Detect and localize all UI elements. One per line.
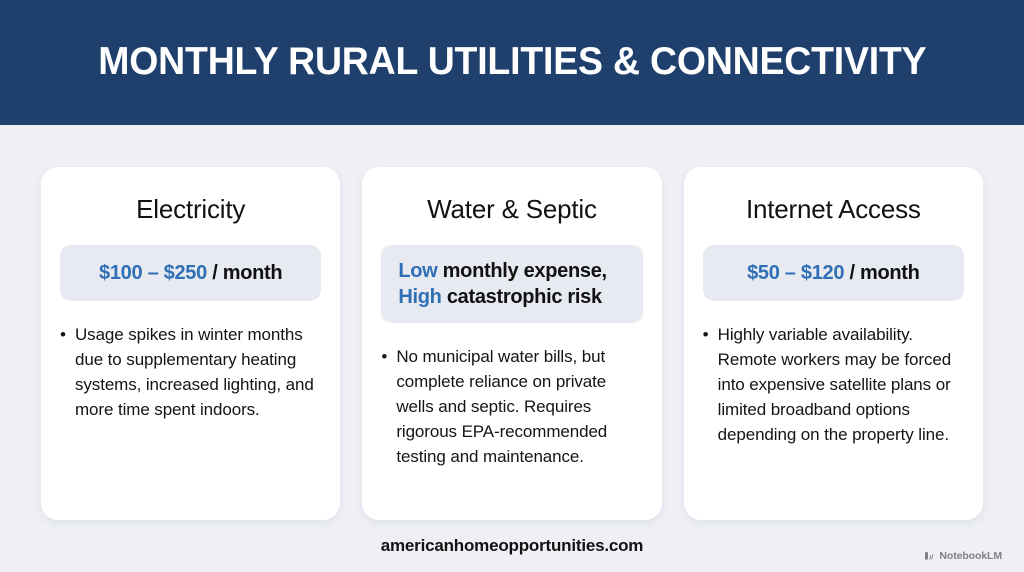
cost-range: $100 – $250 <box>99 262 207 284</box>
notebooklm-icon <box>923 550 935 562</box>
cost-badge: Low monthly expense, High catastrophic r… <box>381 245 642 323</box>
list-item-text: Highly variable availability. Remote wor… <box>718 323 964 448</box>
bullet-list: • No municipal water bills, but complete… <box>381 345 642 470</box>
card-title: Internet Access <box>703 195 964 224</box>
bullet-icon: • <box>381 345 396 370</box>
list-item: • Highly variable availability. Remote w… <box>703 323 964 448</box>
cost-badge-text: $100 – $250 / month <box>99 260 282 286</box>
slide-root: MONTHLY RURAL UTILITIES & CONNECTIVITY E… <box>0 0 1024 572</box>
page-title: MONTHLY RURAL UTILITIES & CONNECTIVITY <box>98 41 926 84</box>
risk-high-desc: catastrophic risk <box>442 286 602 308</box>
card-internet-access: Internet Access $50 – $120 / month • Hig… <box>684 167 983 520</box>
bullet-list: • Usage spikes in winter months due to s… <box>60 323 321 423</box>
slide-header: MONTHLY RURAL UTILITIES & CONNECTIVITY <box>0 0 1024 125</box>
watermark-label: NotebookLM <box>939 550 1002 562</box>
card-electricity: Electricity $100 – $250 / month • Usage … <box>41 167 340 520</box>
cost-badge-text: $50 – $120 / month <box>747 260 919 286</box>
risk-low-desc: monthly expense, <box>437 260 606 282</box>
card-water-septic: Water & Septic Low monthly expense, High… <box>362 167 661 520</box>
card-title: Electricity <box>60 195 321 224</box>
cost-badge: $50 – $120 / month <box>703 245 964 301</box>
cost-period: / month <box>207 262 282 284</box>
slide-footer: americanhomeopportunities.com NotebookLM <box>0 520 1024 572</box>
card-title: Water & Septic <box>381 195 642 224</box>
cost-range: $50 – $120 <box>747 262 844 284</box>
bullet-list: • Highly variable availability. Remote w… <box>703 323 964 448</box>
list-item-text: Usage spikes in winter months due to sup… <box>75 323 321 423</box>
list-item-text: No municipal water bills, but complete r… <box>396 345 642 470</box>
cost-badge: $100 – $250 / month <box>60 245 321 301</box>
source-url: americanhomeopportunities.com <box>381 536 643 556</box>
list-item: • Usage spikes in winter months due to s… <box>60 323 321 423</box>
list-item: • No municipal water bills, but complete… <box>381 345 642 470</box>
cost-period: / month <box>844 262 919 284</box>
bullet-icon: • <box>60 323 75 348</box>
cards-row: Electricity $100 – $250 / month • Usage … <box>0 125 1024 520</box>
bullet-icon: • <box>703 323 718 348</box>
risk-high-label: High <box>398 286 441 308</box>
risk-low-label: Low <box>398 260 437 282</box>
notebooklm-watermark: NotebookLM <box>923 550 1002 562</box>
cost-badge-text: Low monthly expense, High catastrophic r… <box>398 258 607 310</box>
